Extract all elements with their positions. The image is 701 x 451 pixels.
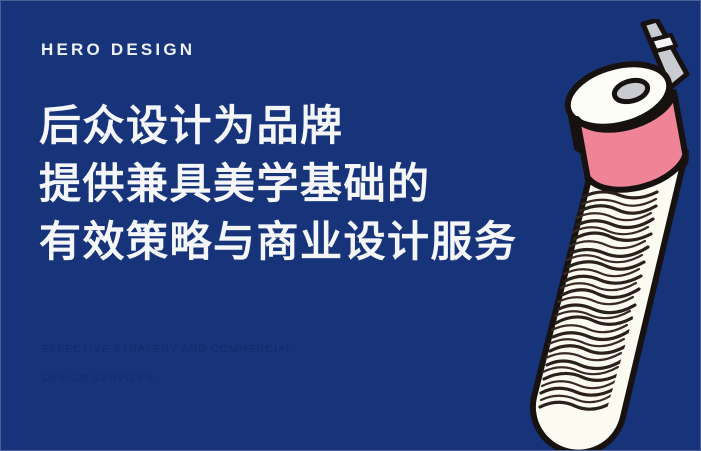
pencil-body	[533, 152, 686, 451]
blade-tip-icon	[643, 20, 687, 88]
body-texture-lines	[540, 192, 657, 409]
headline-line-2: 提供兼具美学基础的	[39, 155, 519, 213]
subtitle-block: EFFECTIVE STRATEGY AND COMMERCIAL DESIGN…	[42, 335, 293, 393]
headline-line-1: 后众设计为品牌	[39, 97, 519, 155]
subtitle-line-2: DESIGN SERVICES	[42, 364, 293, 393]
pink-eraser-band	[577, 92, 686, 196]
subtitle-line-1: EFFECTIVE STRATEGY AND COMMERCIAL	[42, 335, 293, 364]
ferrule-cap	[561, 54, 677, 156]
brand-kicker: HERO DESIGN	[41, 40, 195, 60]
poster-canvas: HERO DESIGN 后众设计为品牌 提供兼具美学基础的 有效策略与商业设计服…	[0, 0, 701, 451]
headline-line-3: 有效策略与商业设计服务	[39, 213, 519, 271]
pencil-group	[533, 20, 687, 451]
headline-block: 后众设计为品牌 提供兼具美学基础的 有效策略与商业设计服务	[39, 97, 519, 271]
